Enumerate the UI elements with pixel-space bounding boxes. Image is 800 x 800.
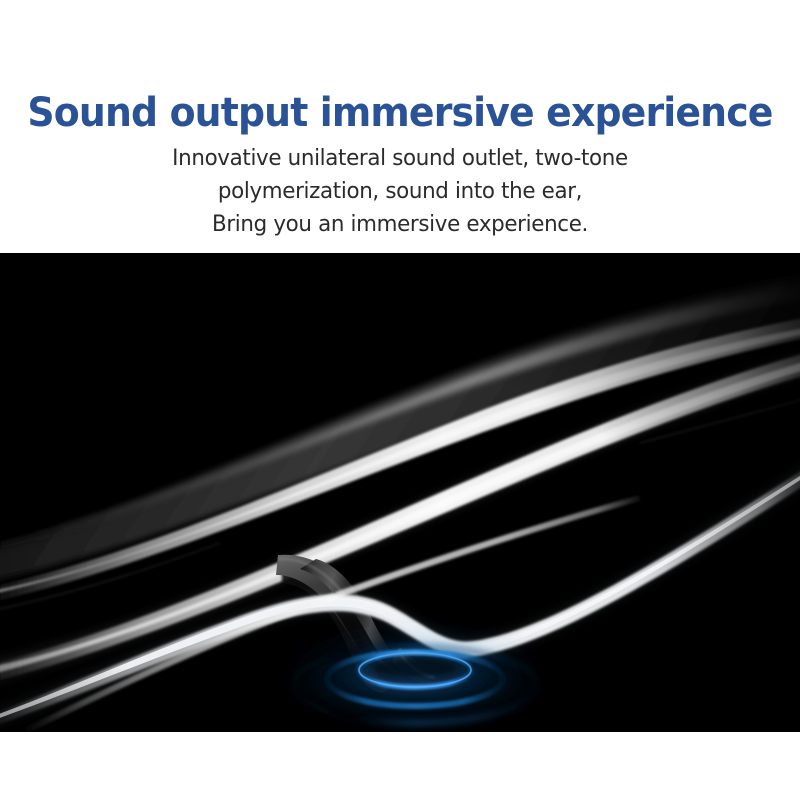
subtitle-line-2: polymerization, sound into the ear, [20, 175, 780, 208]
subtitle-line-3: Bring you an immersive experience. [20, 208, 780, 241]
subtitle-line-1: Innovative unilateral sound outlet, two-… [20, 142, 780, 175]
page-title: Sound output immersive experience [22, 90, 778, 136]
text-block: Sound output immersive experience Innova… [0, 0, 800, 253]
earphone-illustration [0, 253, 800, 732]
photo-vignette [0, 253, 800, 732]
bottom-whitespace [0, 732, 800, 800]
earphone-product-photo [0, 253, 800, 732]
subtitle-block: Innovative unilateral sound outlet, two-… [20, 142, 780, 241]
product-feature-banner: Sound output immersive experience Innova… [0, 0, 800, 800]
